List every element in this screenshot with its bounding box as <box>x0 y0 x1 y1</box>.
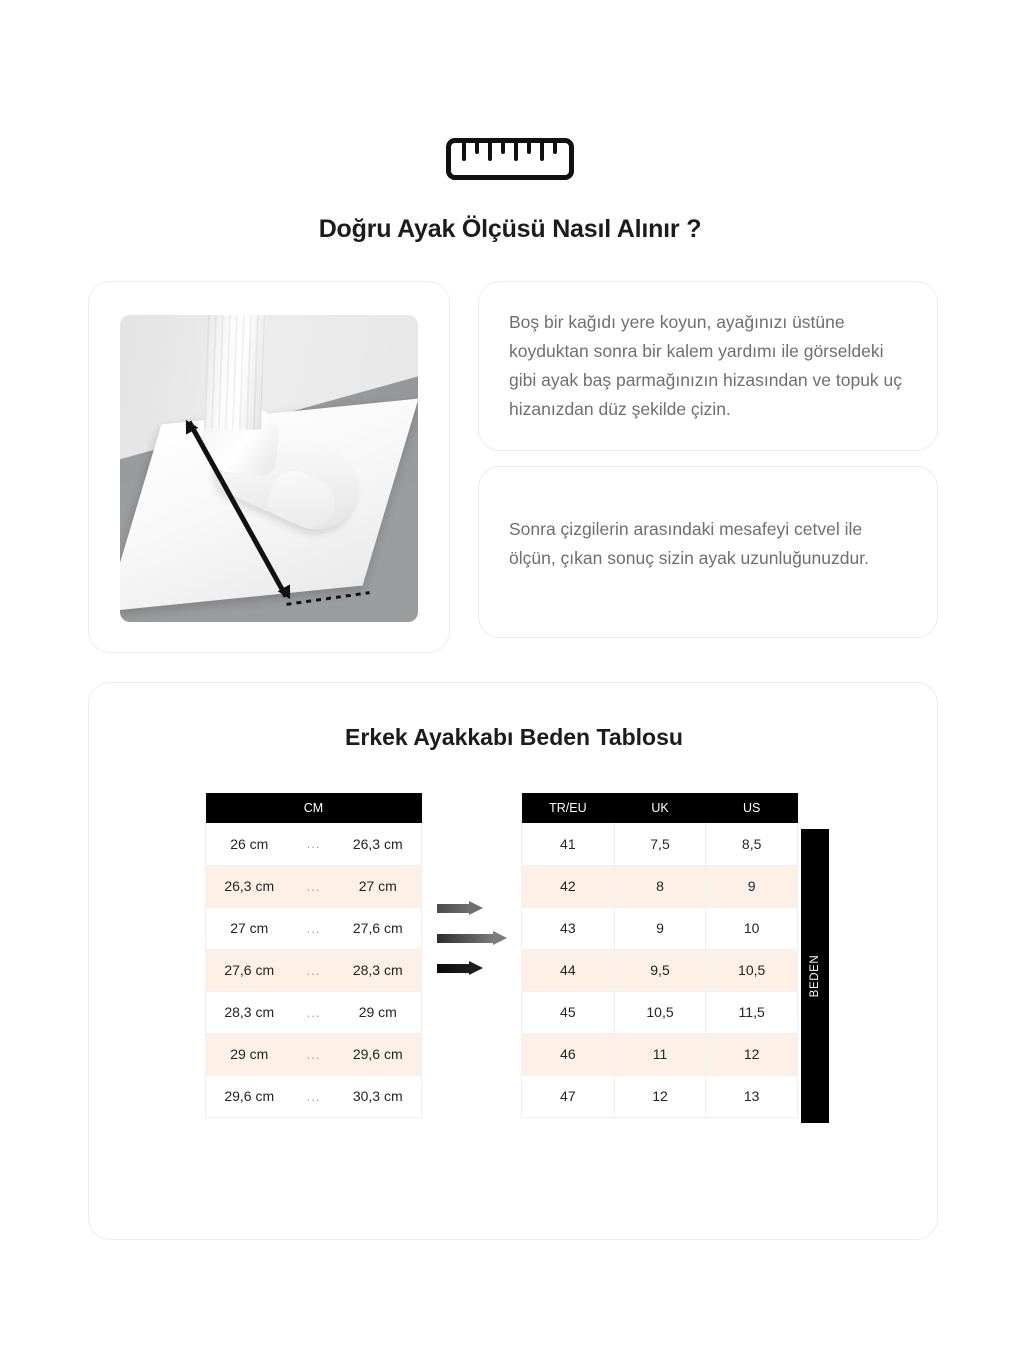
table-row: 4510,511,5 <box>522 991 798 1033</box>
cm-table-body: 26 cm...26,3 cm 26,3 cm...27 cm 27 cm...… <box>206 823 422 1117</box>
cm-max: 29 cm <box>335 991 422 1033</box>
cm-dots: ... <box>293 991 335 1033</box>
size-treu: 47 <box>522 1075 615 1117</box>
arrow-2-icon <box>437 931 507 945</box>
instruction-photo-card <box>88 281 450 653</box>
size-table-body: 417,58,5 4289 43910 449,510,5 4510,511,5… <box>522 823 798 1117</box>
table-row: 29 cm...29,6 cm <box>206 1033 422 1075</box>
table-row: 27,6 cm...28,3 cm <box>206 949 422 991</box>
instruction-text-1: Boş bir kağıdı yere koyun, ayağınızı üst… <box>509 308 909 424</box>
cm-dots: ... <box>293 1075 335 1117</box>
cm-max: 28,3 cm <box>335 949 422 991</box>
table-row: 29,6 cm...30,3 cm <box>206 1075 422 1117</box>
size-treu: 46 <box>522 1033 615 1075</box>
cm-min: 27,6 cm <box>206 949 293 991</box>
size-us: 12 <box>706 1033 798 1075</box>
cm-max: 29,6 cm <box>335 1033 422 1075</box>
table-row: 4289 <box>522 865 798 907</box>
foot-measure-photo <box>120 315 418 622</box>
three-right-arrows-icon <box>437 895 517 1005</box>
page-title: Doğru Ayak Ölçüsü Nasıl Alınır ? <box>0 215 1020 244</box>
size-header-us: US <box>706 793 798 823</box>
size-treu: 41 <box>522 823 615 865</box>
size-treu: 42 <box>522 865 615 907</box>
size-header-treu: TR/EU <box>522 793 615 823</box>
cm-dots: ... <box>293 1033 335 1075</box>
size-guide-page: Doğru Ayak Ölçüsü Nasıl Alınır ? Boş bir… <box>0 0 1020 1360</box>
photo-sock-leg <box>204 315 265 430</box>
size-treu: 45 <box>522 991 615 1033</box>
cm-min: 27 cm <box>206 907 293 949</box>
size-us: 10,5 <box>706 949 798 991</box>
instruction-card-1: Boş bir kağıdı yere koyun, ayağınızı üst… <box>478 281 938 451</box>
instruction-card-2: Sonra çizgilerin arasındaki mesafeyi cet… <box>478 466 938 638</box>
size-treu: 43 <box>522 907 615 949</box>
size-table-card: Erkek Ayakkabı Beden Tablosu CM 26 cm...… <box>88 682 938 1240</box>
size-us: 13 <box>706 1075 798 1117</box>
size-uk: 10,5 <box>614 991 706 1033</box>
cm-max: 27 cm <box>335 865 422 907</box>
cm-min: 26,3 cm <box>206 865 293 907</box>
cm-min: 28,3 cm <box>206 991 293 1033</box>
cm-max: 30,3 cm <box>335 1075 422 1117</box>
cm-max: 27,6 cm <box>335 907 422 949</box>
cm-dots: ... <box>293 823 335 865</box>
size-uk: 11 <box>614 1033 706 1075</box>
size-us: 11,5 <box>706 991 798 1033</box>
instruction-text-2: Sonra çizgilerin arasındaki mesafeyi cet… <box>509 515 909 573</box>
beden-label: BEDEN <box>809 955 821 998</box>
ruler-icon <box>446 138 574 180</box>
size-uk: 8 <box>614 865 706 907</box>
size-us: 8,5 <box>706 823 798 865</box>
size-treu: 44 <box>522 949 615 991</box>
size-us: 9 <box>706 865 798 907</box>
cm-min: 29,6 cm <box>206 1075 293 1117</box>
table-row: 27 cm...27,6 cm <box>206 907 422 949</box>
table-row: 26 cm...26,3 cm <box>206 823 422 865</box>
cm-min: 26 cm <box>206 823 293 865</box>
cm-dots: ... <box>293 865 335 907</box>
table-row: 417,58,5 <box>522 823 798 865</box>
size-uk: 12 <box>614 1075 706 1117</box>
size-uk: 7,5 <box>614 823 706 865</box>
table-row: 449,510,5 <box>522 949 798 991</box>
size-uk: 9 <box>614 907 706 949</box>
beden-side-bar: BEDEN <box>801 829 829 1123</box>
cm-dots: ... <box>293 949 335 991</box>
table-row: 461112 <box>522 1033 798 1075</box>
size-table-title: Erkek Ayakkabı Beden Tablosu <box>89 724 939 751</box>
table-row: 28,3 cm...29 cm <box>206 991 422 1033</box>
size-uk: 9,5 <box>614 949 706 991</box>
cm-max: 26,3 cm <box>335 823 422 865</box>
arrow-3-icon <box>437 961 483 975</box>
ruler-icon-container <box>0 138 1020 180</box>
size-us: 10 <box>706 907 798 949</box>
cm-dots: ... <box>293 907 335 949</box>
size-header-uk: UK <box>614 793 706 823</box>
cm-min: 29 cm <box>206 1033 293 1075</box>
cm-table-header: CM <box>206 793 422 823</box>
table-row: 471213 <box>522 1075 798 1117</box>
arrow-1-icon <box>437 901 483 915</box>
size-conversion-table: TR/EU UK US 417,58,5 4289 43910 449,510,… <box>521 793 798 1118</box>
cm-table: CM 26 cm...26,3 cm 26,3 cm...27 cm 27 cm… <box>205 793 422 1118</box>
table-row: 26,3 cm...27 cm <box>206 865 422 907</box>
table-row: 43910 <box>522 907 798 949</box>
